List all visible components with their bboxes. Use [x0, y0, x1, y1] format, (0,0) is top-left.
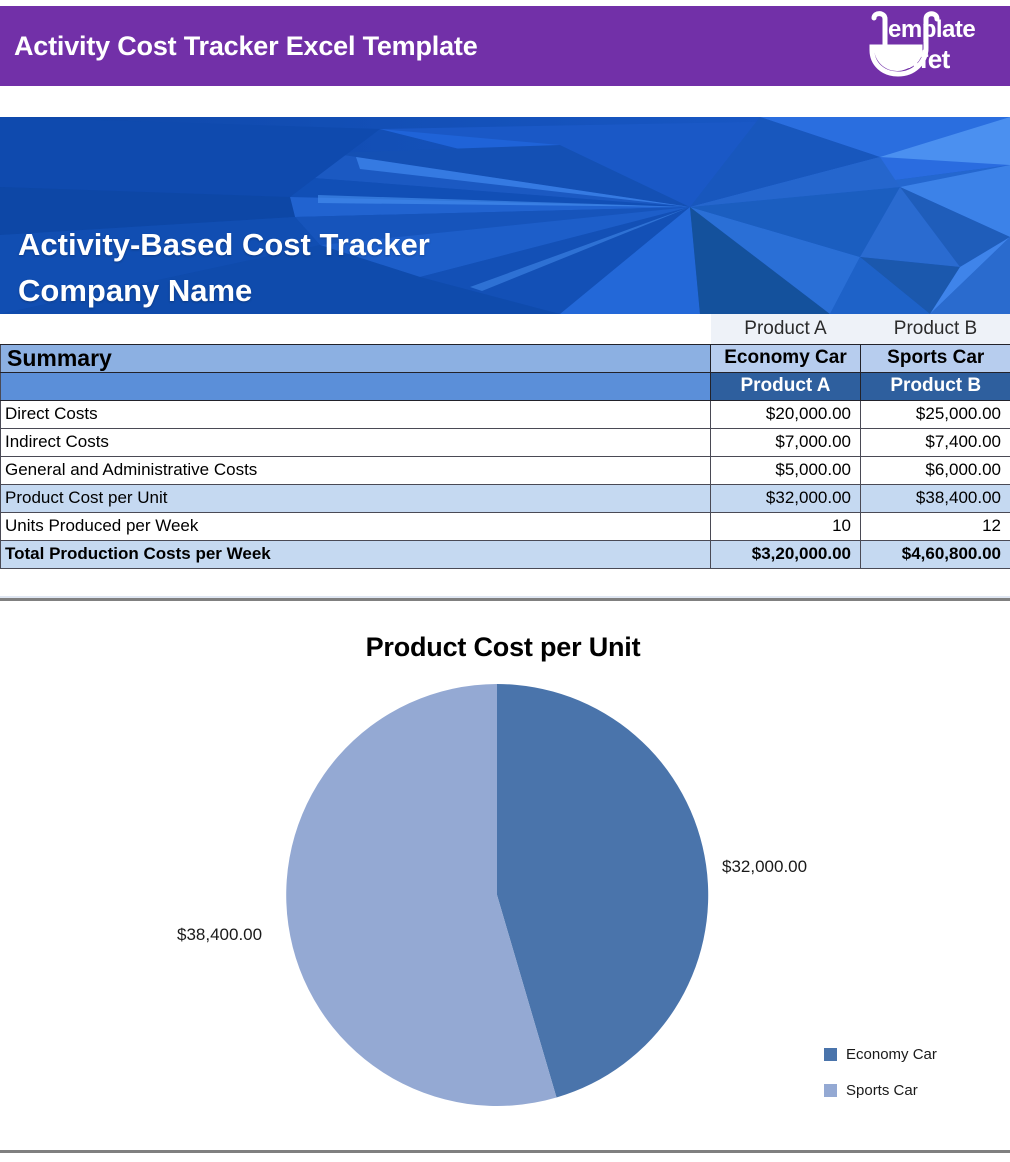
logo-text-uffet: uffet	[896, 44, 950, 75]
table-row-total: Total Production Costs per Week $3,20,00…	[1, 540, 1010, 568]
summary-table-container: Product A Product B Summary Economy Car …	[0, 314, 1010, 569]
row-value-a[interactable]: $7,000.00	[711, 428, 861, 456]
banner: Activity-Based Cost Tracker Company Name	[0, 117, 1010, 314]
chart-title: Product Cost per Unit	[0, 632, 1010, 663]
legend-swatch-icon	[824, 1048, 837, 1061]
summary-label: Summary	[1, 344, 711, 372]
summary-header-b: Sports Car	[861, 344, 1010, 372]
table-row: Units Produced per Week 10 12	[1, 512, 1010, 540]
row-value-b[interactable]: $6,000.00	[861, 456, 1010, 484]
row-value-a[interactable]: 10	[711, 512, 861, 540]
table-row-summary-header: Summary Economy Car Sports Car	[1, 344, 1010, 372]
row-label: Indirect Costs	[1, 428, 711, 456]
legend-label: Economy Car	[846, 1046, 937, 1063]
row-value-b[interactable]: 12	[861, 512, 1010, 540]
summary-table: Product A Product B Summary Economy Car …	[0, 314, 1010, 569]
logo-text-emplate: emplate	[888, 16, 975, 44]
product-key-a: Product A	[711, 372, 861, 400]
legend-item-economy-car[interactable]: Economy Car	[824, 1042, 937, 1066]
table-row: Indirect Costs $7,000.00 $7,400.00	[1, 428, 1010, 456]
row-value-a[interactable]: $5,000.00	[711, 456, 861, 484]
row-label: Product Cost per Unit	[1, 484, 711, 512]
chart-legend: Economy Car Sports Car	[824, 1042, 937, 1114]
summary-header-a: Economy Car	[711, 344, 861, 372]
row-value-b[interactable]: $7,400.00	[861, 428, 1010, 456]
product-header-b: Product B	[861, 314, 1010, 344]
template-buffet-logo: emplate uffet	[852, 10, 1002, 82]
pie-chart[interactable]	[282, 680, 712, 1110]
chart-title-text: Product Cost per Unit	[366, 632, 641, 663]
product-key-label	[1, 372, 711, 400]
banner-title: Activity-Based Cost Tracker Company Name	[18, 222, 430, 313]
row-label: General and Administrative Costs	[1, 456, 711, 484]
table-row: Direct Costs $20,000.00 $25,000.00	[1, 400, 1010, 428]
row-label: Units Produced per Week	[1, 512, 711, 540]
section-divider-bottom	[0, 1150, 1010, 1153]
row-label: Direct Costs	[1, 400, 711, 428]
product-header-a: Product A	[711, 314, 861, 344]
row-value-a[interactable]: $32,000.00	[711, 484, 861, 512]
page-header-bar: Activity Cost Tracker Excel Template emp…	[0, 6, 1010, 86]
row-value-b[interactable]: $38,400.00	[861, 484, 1010, 512]
table-row-product-key: Product A Product B	[1, 372, 1010, 400]
template-page: Activity Cost Tracker Excel Template emp…	[0, 0, 1010, 1162]
row-label: Total Production Costs per Week	[1, 540, 711, 568]
chart-panel: Product Cost per Unit $32,000.00 $38,400…	[0, 602, 1010, 1150]
pie-data-label-economy-car: $32,000.00	[722, 857, 807, 877]
banner-title-line2: Company Name	[18, 268, 430, 314]
row-value-a: $3,20,000.00	[711, 540, 861, 568]
product-key-b: Product B	[861, 372, 1010, 400]
table-row-product-header: Product A Product B	[1, 314, 1010, 344]
row-value-b: $4,60,800.00	[861, 540, 1010, 568]
spacer-cell	[1, 314, 711, 344]
row-value-a[interactable]: $20,000.00	[711, 400, 861, 428]
table-row: General and Administrative Costs $5,000.…	[1, 456, 1010, 484]
legend-label: Sports Car	[846, 1082, 918, 1099]
section-divider-top	[0, 598, 1010, 601]
table-row: Product Cost per Unit $32,000.00 $38,400…	[1, 484, 1010, 512]
legend-swatch-icon	[824, 1084, 837, 1097]
legend-item-sports-car[interactable]: Sports Car	[824, 1078, 937, 1102]
row-value-b[interactable]: $25,000.00	[861, 400, 1010, 428]
banner-title-line1: Activity-Based Cost Tracker	[18, 222, 430, 268]
page-title: Activity Cost Tracker Excel Template	[0, 31, 478, 62]
pie-data-label-sports-car: $38,400.00	[177, 925, 262, 945]
